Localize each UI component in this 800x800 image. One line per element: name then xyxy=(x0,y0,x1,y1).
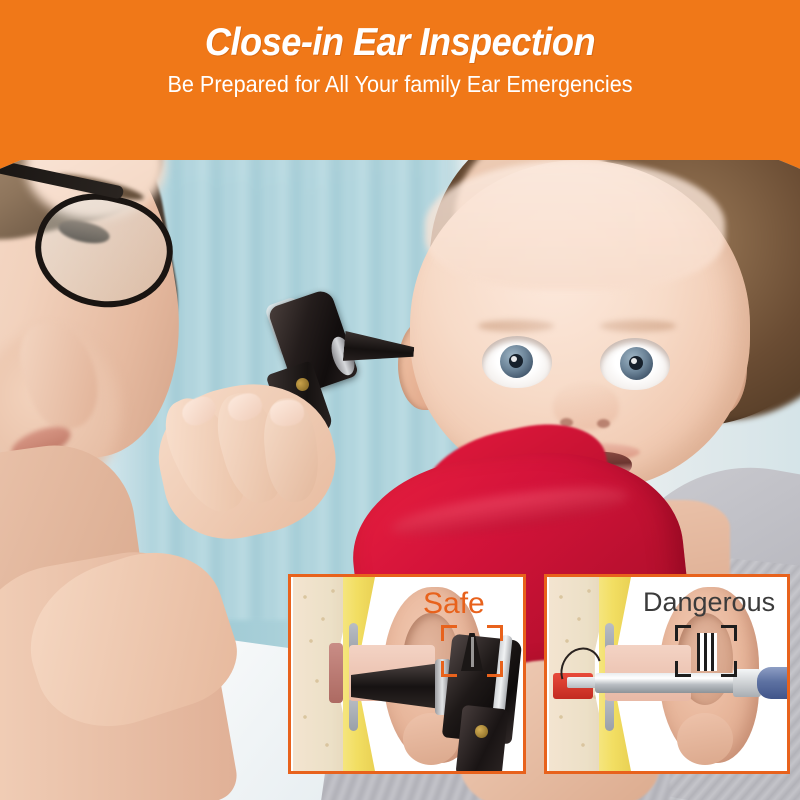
bracket-corner-br xyxy=(487,661,503,677)
product-poster: Close-in Ear Inspection Be Prepared for … xyxy=(0,0,800,800)
page-subtitle: Be Prepared for All Your family Ear Emer… xyxy=(24,70,776,98)
straight-probe-icon xyxy=(675,625,737,677)
panel-dangerous[interactable]: Dangerous xyxy=(544,574,790,774)
bracket-corner-tr xyxy=(721,625,737,641)
otoscope-screw-inset xyxy=(475,725,488,738)
baby-left-eye-glint xyxy=(511,356,517,362)
panel-safe[interactable]: Safe xyxy=(288,574,526,774)
bracket-corner-br xyxy=(721,661,737,677)
eardrum xyxy=(329,643,343,703)
baby-right-eye-glint xyxy=(631,358,637,364)
ear-lobe xyxy=(677,713,733,765)
baby-right-brow xyxy=(600,320,676,332)
cone-speculum-icon xyxy=(441,625,503,677)
cone-highlight xyxy=(471,637,474,667)
panel-dangerous-label: Dangerous xyxy=(643,587,775,618)
bracket-corner-tr xyxy=(487,625,503,641)
panel-safe-label: Safe xyxy=(423,587,485,621)
header-banner: Close-in Ear Inspection Be Prepared for … xyxy=(0,0,800,160)
baby-right-nostril xyxy=(597,419,610,428)
cartilage-lower xyxy=(349,697,358,731)
page-title: Close-in Ear Inspection xyxy=(28,20,772,66)
cartilage-lower xyxy=(605,697,614,731)
bracket-corner-tl xyxy=(675,625,691,641)
ear-pick-blue-handle xyxy=(757,667,790,699)
bracket-corner-bl xyxy=(675,661,691,677)
bracket-corner-bl xyxy=(441,661,457,677)
baby-forehead xyxy=(425,160,725,290)
otoscope-grip-inset xyxy=(455,705,508,774)
baby-left-brow xyxy=(478,320,554,332)
probe-bars-glyph xyxy=(697,633,717,671)
bracket-corner-tl xyxy=(441,625,457,641)
